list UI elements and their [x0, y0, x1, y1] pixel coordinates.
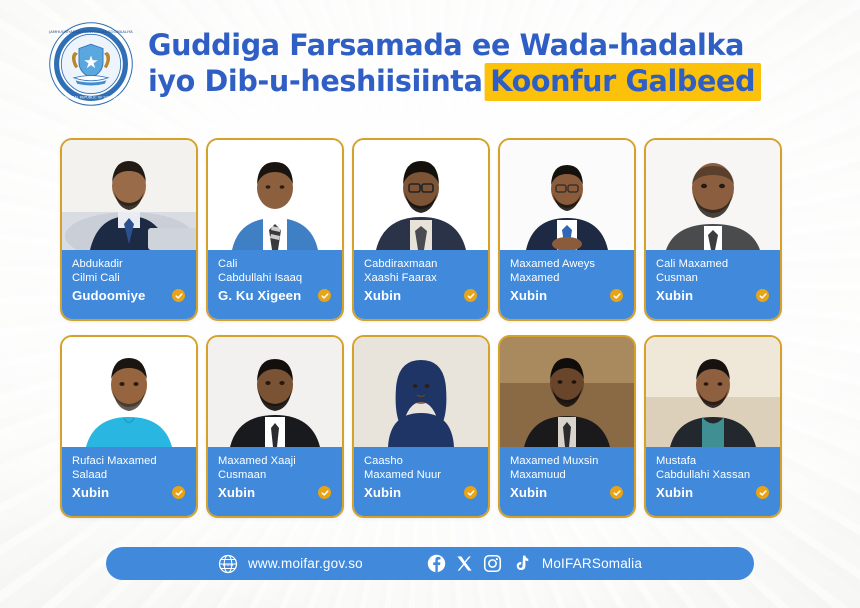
member-name-line2: Maxamed Nuur — [364, 469, 479, 483]
verified-badge-icon — [756, 289, 769, 302]
x-twitter-icon[interactable] — [455, 554, 474, 573]
title-highlight: Koonfur Galbeed — [484, 63, 760, 101]
member-info: Cali Maxamed Cusman Xubin — [646, 250, 780, 319]
member-role: Xubin — [510, 485, 547, 500]
member-name-line1: Maxamed Xaaji — [218, 455, 333, 469]
member-info: Maxamed Muxsin Maxamuud Xubin — [500, 447, 634, 516]
member-role-row: Xubin — [72, 485, 187, 500]
poster-title: Guddiga Farsamada ee Wada-hadalka iyo Di… — [148, 26, 780, 98]
member-info: Rufaci Maxamed Salaad Xubin — [62, 447, 196, 516]
member-role-row: Xubin — [510, 288, 625, 303]
verified-badge-icon — [172, 289, 185, 302]
footer-website-group[interactable]: www www.moifar.gov.so — [218, 554, 363, 574]
member-info: Maxamed Xaaji Cusmaan Xubin — [208, 447, 342, 516]
member-info: Mustafa Cabdullahi Xassan Xubin — [646, 447, 780, 516]
member-card[interactable]: Maxamed Xaaji Cusmaan Xubin — [206, 335, 344, 518]
member-name-line1: Maxamed Aweys — [510, 258, 625, 272]
member-role: Xubin — [218, 485, 255, 500]
member-photo — [62, 337, 196, 447]
member-name-line1: Maxamed Muxsin — [510, 455, 625, 469]
member-photo — [500, 337, 634, 447]
members-grid: Abdukadir Cilmi Cali Gudoomiye — [60, 138, 806, 518]
member-card[interactable]: Cali Maxamed Cusman Xubin — [644, 138, 782, 321]
member-card[interactable]: Cali Cabdullahi Isaaq G. Ku Xigeen — [206, 138, 344, 321]
member-role-row: Xubin — [510, 485, 625, 500]
instagram-icon[interactable] — [483, 554, 502, 573]
verified-badge-icon — [318, 486, 331, 499]
title-line-2-prefix: iyo Dib-u-heshiisiinta — [148, 64, 483, 98]
member-name-line2: Cabdullahi Xassan — [656, 469, 771, 483]
member-name-line1: Cali — [218, 258, 333, 272]
member-name-line1: Cabdiraxmaan — [364, 258, 479, 272]
member-role: Xubin — [72, 485, 109, 500]
tiktok-icon[interactable] — [511, 554, 530, 573]
verified-badge-icon — [610, 289, 623, 302]
member-role-row: Xubin — [656, 485, 771, 500]
member-name-line2: Cusmaan — [218, 469, 333, 483]
title-line-1: Guddiga Farsamada ee Wada-hadalka — [148, 28, 761, 62]
member-card[interactable]: Cabdiraxmaan Xaashi Faarax Xubin — [352, 138, 490, 321]
member-role-row: Xubin — [364, 485, 479, 500]
member-card[interactable]: Maxamed Aweys Maxamed Xubin — [498, 138, 636, 321]
member-info: Abdukadir Cilmi Cali Gudoomiye — [62, 250, 196, 319]
member-card[interactable]: Caasho Maxamed Nuur Xubin — [352, 335, 490, 518]
footer-bar: www www.moifar.gov.so — [106, 547, 754, 580]
member-role-row: Xubin — [218, 485, 333, 500]
member-name-line1: Abdukadir — [72, 258, 187, 272]
footer-social-handle[interactable]: MoIFARSomalia — [542, 556, 642, 571]
member-role: Xubin — [510, 288, 547, 303]
footer-website-url[interactable]: www.moifar.gov.so — [248, 556, 363, 571]
verified-badge-icon — [172, 486, 185, 499]
member-card[interactable]: Rufaci Maxamed Salaad Xubin — [60, 335, 198, 518]
member-photo — [354, 140, 488, 250]
member-role: Xubin — [364, 485, 401, 500]
poster-page: JAMHUURIYADDA FEDERAALKA SOOMAALIYA FEDE… — [0, 0, 860, 608]
member-name-line2: Maxamuud — [510, 469, 625, 483]
footer-social-group[interactable]: MoIFARSomalia — [427, 554, 642, 573]
somalia-emblem-icon: JAMHUURIYADDA FEDERAALKA SOOMAALIYA FEDE… — [48, 21, 134, 107]
member-card[interactable]: Mustafa Cabdullahi Xassan Xubin — [644, 335, 782, 518]
member-name-line2: Cabdullahi Isaaq — [218, 272, 333, 286]
member-photo — [208, 140, 342, 250]
member-role-row: Gudoomiye — [72, 288, 187, 303]
verified-badge-icon — [464, 486, 477, 499]
member-role-row: Xubin — [656, 288, 771, 303]
member-photo — [646, 140, 780, 250]
verified-badge-icon — [464, 289, 477, 302]
member-name-line1: Rufaci Maxamed — [72, 455, 187, 469]
member-role: Xubin — [656, 288, 693, 303]
member-card[interactable]: Maxamed Muxsin Maxamuud Xubin — [498, 335, 636, 518]
member-role: Xubin — [656, 485, 693, 500]
member-info: Cali Cabdullahi Isaaq G. Ku Xigeen — [208, 250, 342, 319]
verified-badge-icon — [610, 486, 623, 499]
svg-text:FEDERAL REPUBLIC OF SOMALIA: FEDERAL REPUBLIC OF SOMALIA — [63, 95, 119, 99]
member-photo — [500, 140, 634, 250]
members-row-1: Abdukadir Cilmi Cali Gudoomiye — [60, 138, 806, 321]
member-name-line1: Mustafa — [656, 455, 771, 469]
member-card[interactable]: Abdukadir Cilmi Cali Gudoomiye — [60, 138, 198, 321]
member-photo — [646, 337, 780, 447]
member-photo — [62, 140, 196, 250]
member-name-line2: Salaad — [72, 469, 187, 483]
member-photo — [208, 337, 342, 447]
facebook-icon[interactable] — [427, 554, 446, 573]
member-name-line2: Cilmi Cali — [72, 272, 187, 286]
member-info: Cabdiraxmaan Xaashi Faarax Xubin — [354, 250, 488, 319]
member-photo — [354, 337, 488, 447]
member-name-line2: Cusman — [656, 272, 771, 286]
member-role-row: G. Ku Xigeen — [218, 288, 333, 303]
member-role: Xubin — [364, 288, 401, 303]
member-name-line2: Maxamed — [510, 272, 625, 286]
verified-badge-icon — [756, 486, 769, 499]
member-info: Maxamed Aweys Maxamed Xubin — [500, 250, 634, 319]
member-info: Caasho Maxamed Nuur Xubin — [354, 447, 488, 516]
header: JAMHUURIYADDA FEDERAALKA SOOMAALIYA FEDE… — [0, 0, 860, 124]
globe-icon: www — [218, 554, 238, 574]
svg-text:www: www — [222, 562, 233, 567]
title-line-2: iyo Dib-u-heshiisiintaKoonfur Galbeed — [148, 64, 761, 98]
members-row-2: Rufaci Maxamed Salaad Xubin — [60, 335, 806, 518]
svg-text:JAMHUURIYADDA FEDERAALKA SOOMA: JAMHUURIYADDA FEDERAALKA SOOMAALIYA — [48, 29, 133, 34]
member-name-line2: Xaashi Faarax — [364, 272, 479, 286]
member-role-row: Xubin — [364, 288, 479, 303]
member-name-line1: Caasho — [364, 455, 479, 469]
member-role: G. Ku Xigeen — [218, 288, 301, 303]
member-role: Gudoomiye — [72, 288, 145, 303]
member-name-line1: Cali Maxamed — [656, 258, 771, 272]
verified-badge-icon — [318, 289, 331, 302]
